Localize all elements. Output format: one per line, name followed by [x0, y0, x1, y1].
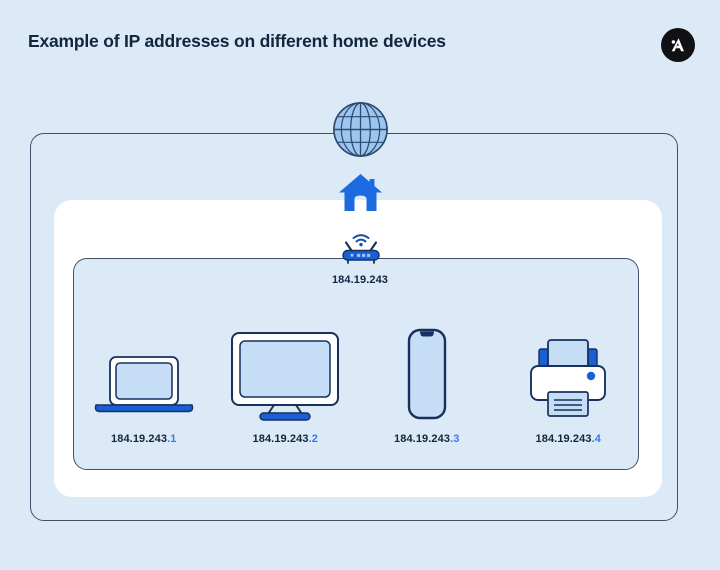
page-title: Example of IP addresses on different hom… [28, 31, 446, 52]
ip-host-part: .2 [309, 433, 318, 445]
printer-icon [523, 323, 613, 421]
monitor-icon [224, 323, 346, 421]
laptop-icon [90, 323, 198, 421]
device-printer: 184.19.243.4 [508, 323, 628, 445]
ip-network-part: 184.19.243 [111, 433, 167, 445]
device-ip-label: 184.19.243.4 [536, 433, 601, 445]
device-smartphone: 184.19.243.3 [367, 323, 487, 445]
ip-host-part: .3 [450, 433, 459, 445]
device-ip-label: 184.19.243.2 [253, 433, 318, 445]
house-icon [337, 172, 384, 214]
device-laptop: 184.19.243.1 [84, 323, 204, 445]
infographic-canvas: Example of IP addresses on different hom… [0, 0, 720, 570]
router-icon [336, 230, 386, 266]
device-row: 184.19.243.1 184.19.243.2 [73, 305, 639, 445]
brand-a-logo-icon [661, 28, 695, 62]
ip-network-part: 184.19.243 [253, 433, 309, 445]
smartphone-icon [401, 323, 453, 421]
ip-network-part: 184.19.243 [536, 433, 592, 445]
ip-network-part: 184.19.243 [394, 433, 450, 445]
globe-icon [331, 100, 390, 159]
ip-host-part: .4 [592, 433, 601, 445]
device-ip-label: 184.19.243.3 [394, 433, 459, 445]
router-ip-label: 184.19.243 [0, 274, 720, 286]
device-monitor: 184.19.243.2 [225, 323, 345, 445]
device-ip-label: 184.19.243.1 [111, 433, 176, 445]
ip-host-part: .1 [167, 433, 176, 445]
